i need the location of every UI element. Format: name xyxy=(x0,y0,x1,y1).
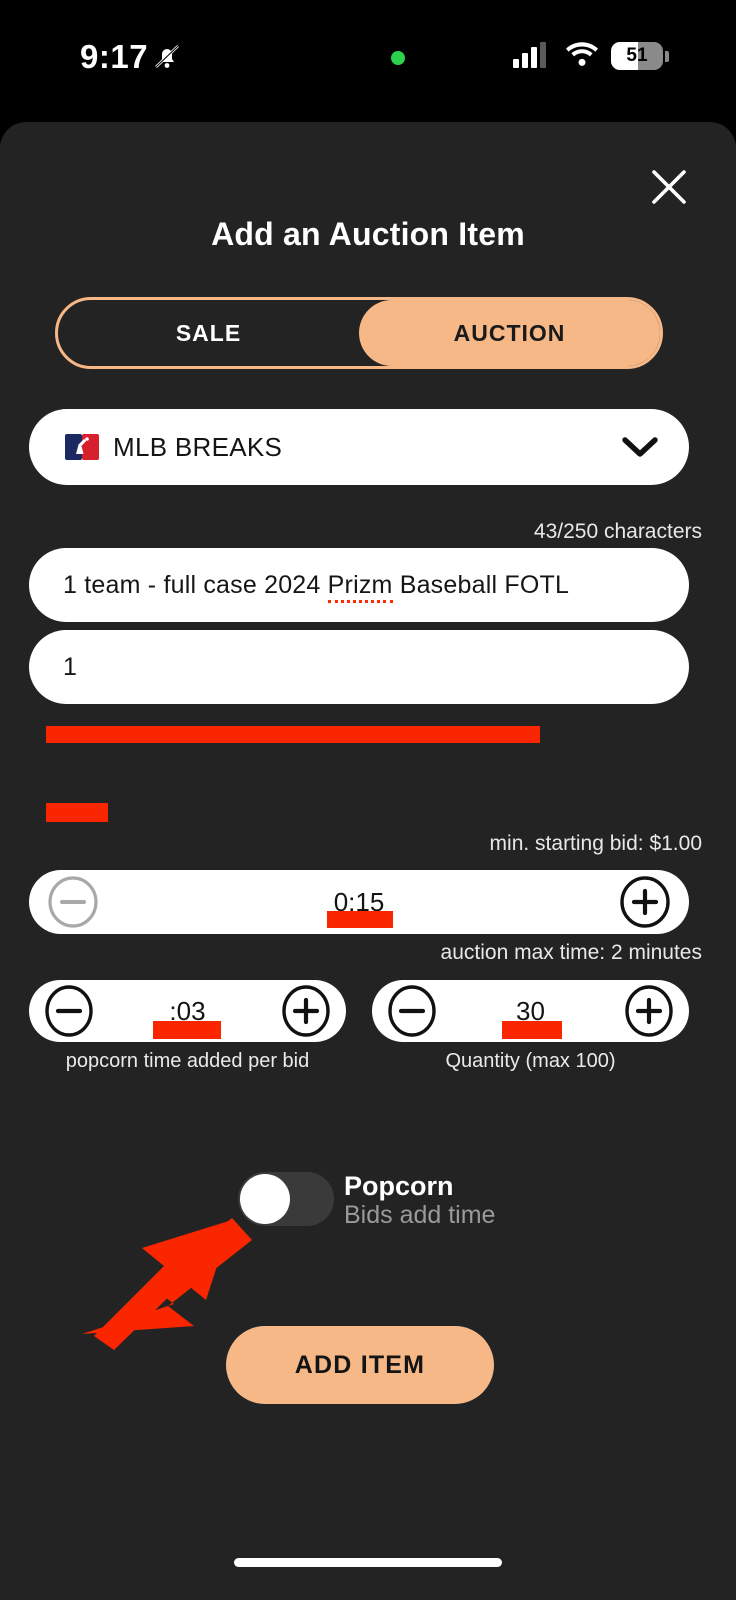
battery-percent-label: 51 xyxy=(611,45,663,67)
redaction-bar-quantity xyxy=(502,1021,562,1039)
mode-segmented-control[interactable]: SALE AUCTION xyxy=(55,297,663,369)
category-dropdown[interactable]: MLB BREAKS xyxy=(29,409,689,485)
item-title-value: 1 team - full case 2024 Prizm Baseball F… xyxy=(63,571,569,600)
add-item-button[interactable]: ADD ITEM xyxy=(226,1326,494,1404)
popcorn-time-minus-icon[interactable] xyxy=(43,985,95,1037)
page-title: Add an Auction Item xyxy=(0,216,736,253)
quantity-minus-icon[interactable] xyxy=(386,985,438,1037)
duration-minus-icon[interactable] xyxy=(47,876,99,928)
min-starting-bid-hint: min. starting bid: $1.00 xyxy=(490,832,702,856)
bell-muted-icon xyxy=(152,42,182,72)
redaction-bar-price xyxy=(46,803,108,822)
redaction-bar-duration xyxy=(327,911,393,928)
popcorn-toggle-subtitle: Bids add time xyxy=(344,1201,495,1230)
status-bar-clock: 9:17 xyxy=(80,38,148,76)
item-title-text-after: Baseball FOTL xyxy=(393,571,569,599)
character-counter: 43/250 characters xyxy=(534,520,702,544)
item-title-input[interactable]: 1 team - full case 2024 Prizm Baseball F… xyxy=(29,548,689,622)
green-recording-dot xyxy=(391,51,405,65)
chevron-down-icon[interactable] xyxy=(621,435,659,459)
battery-indicator: 51 xyxy=(611,42,663,70)
battery-cap xyxy=(665,51,669,62)
cellular-signal-icon xyxy=(513,42,547,68)
add-auction-item-sheet: Add an Auction Item SALE AUCTION MLB BRE… xyxy=(0,122,736,1600)
wifi-icon xyxy=(565,40,599,68)
popcorn-time-stepper-label: popcorn time added per bid xyxy=(29,1050,346,1073)
redaction-bar-title xyxy=(46,726,540,743)
status-bar: 9:17 51 xyxy=(0,0,736,122)
quantity-plus-icon[interactable] xyxy=(623,985,675,1037)
tab-auction[interactable]: AUCTION xyxy=(359,300,660,366)
duration-plus-icon[interactable] xyxy=(619,876,671,928)
starting-bid-value: 1 xyxy=(63,653,77,682)
redaction-bar-popcorn-time xyxy=(153,1021,221,1039)
popcorn-time-plus-icon[interactable] xyxy=(280,985,332,1037)
tab-sale[interactable]: SALE xyxy=(58,300,359,366)
popcorn-toggle-knob[interactable] xyxy=(240,1174,290,1224)
mlb-logo-icon xyxy=(65,434,99,460)
red-arrow-annotation xyxy=(80,1212,260,1352)
starting-bid-input[interactable]: 1 xyxy=(29,630,689,704)
home-indicator xyxy=(234,1558,502,1567)
quantity-stepper-label: Quantity (max 100) xyxy=(372,1050,689,1073)
popcorn-toggle-title: Popcorn xyxy=(344,1171,454,1202)
category-dropdown-value: MLB BREAKS xyxy=(113,432,621,463)
popcorn-toggle[interactable] xyxy=(238,1172,334,1226)
phone-screen: 9:17 51 Add an Auction Item xyxy=(0,0,736,1600)
item-title-text-before: 1 team - full case 2024 xyxy=(63,571,328,599)
auction-max-time-hint: auction max time: 2 minutes xyxy=(441,941,702,965)
close-icon[interactable] xyxy=(646,164,692,210)
item-title-misspelled-word: Prizm xyxy=(328,571,393,603)
